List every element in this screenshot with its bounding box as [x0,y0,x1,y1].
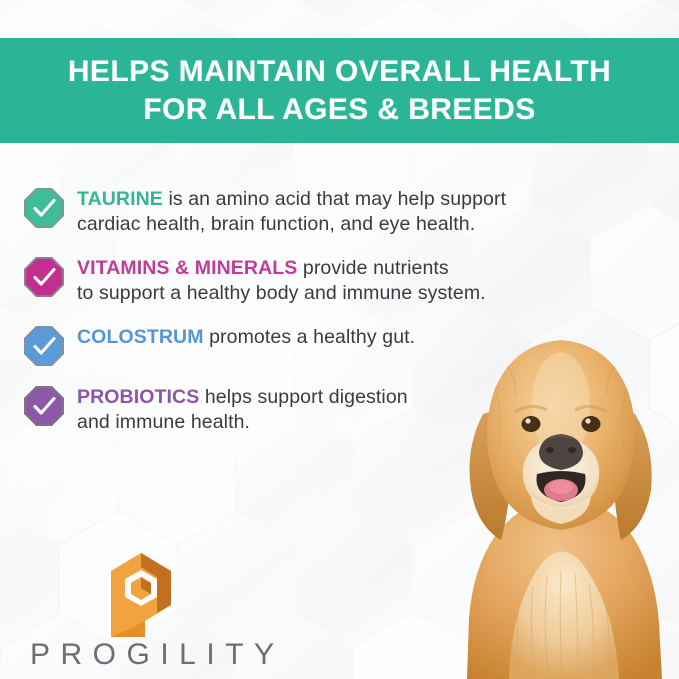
background-hexagon [296,512,412,646]
benefit-keyword: COLOSTRUM [77,326,204,348]
octagon-check-icon [24,188,64,228]
brand-logo: PROGILITY [30,545,280,670]
header-title-line-1: HELPS MAINTAIN OVERALL HEALTH [68,53,611,91]
octagon-check-icon [24,257,64,297]
background-hexagon [60,0,176,33]
background-hexagon [650,0,679,33]
benefit-body-line-1: promotes a healthy gut. [204,326,416,348]
background-hexagon [296,0,412,33]
brand-wordmark: PROGILITY [30,638,285,672]
benefit-body-line-2: to support a healthy body and immune sys… [77,282,486,304]
background-hexagon [414,0,530,33]
benefit-keyword: VITAMINS & MINERALS [77,257,297,279]
background-hexagon [532,0,648,33]
check-mark-icon [24,257,64,297]
benefit-text: VITAMINS & MINERALS provide nutrients to… [77,255,486,306]
benefit-body-line-1: is an amino acid that may help support [163,188,506,210]
benefit-keyword: PROBIOTICS [77,386,199,408]
background-hexagon [0,0,58,33]
background-hexagon [178,0,294,33]
golden-retriever-illustration [449,318,679,679]
infographic-canvas: HELPS MAINTAIN OVERALL HEALTH FOR ALL AG… [0,0,679,679]
benefit-body-line-1: helps support digestion [199,386,407,408]
benefit-item-taurine: TAURINE is an amino acid that may help s… [24,186,604,237]
check-mark-icon [24,326,64,366]
check-mark-icon [24,188,64,228]
dog-photo [449,318,679,679]
check-mark-icon [24,386,64,426]
header-banner: HELPS MAINTAIN OVERALL HEALTH FOR ALL AG… [0,38,679,143]
benefit-text: PROBIOTICS helps support digestion and i… [77,384,408,435]
octagon-check-icon [24,386,64,426]
benefit-keyword: TAURINE [77,188,163,210]
octagon-check-icon [24,326,64,366]
benefit-body-line-2: cardiac health, brain function, and eye … [77,213,475,235]
header-title-line-2: FOR ALL AGES & BREEDS [143,91,535,129]
benefit-text: COLOSTRUM promotes a healthy gut. [77,324,415,350]
benefit-body-line-1: provide nutrients [297,257,448,279]
benefit-item-vitamins-minerals: VITAMINS & MINERALS provide nutrients to… [24,255,604,306]
progility-hex-p-logo-icon [101,545,186,637]
benefit-body-line-2: and immune health. [77,411,250,433]
benefit-text: TAURINE is an amino acid that may help s… [77,186,506,237]
